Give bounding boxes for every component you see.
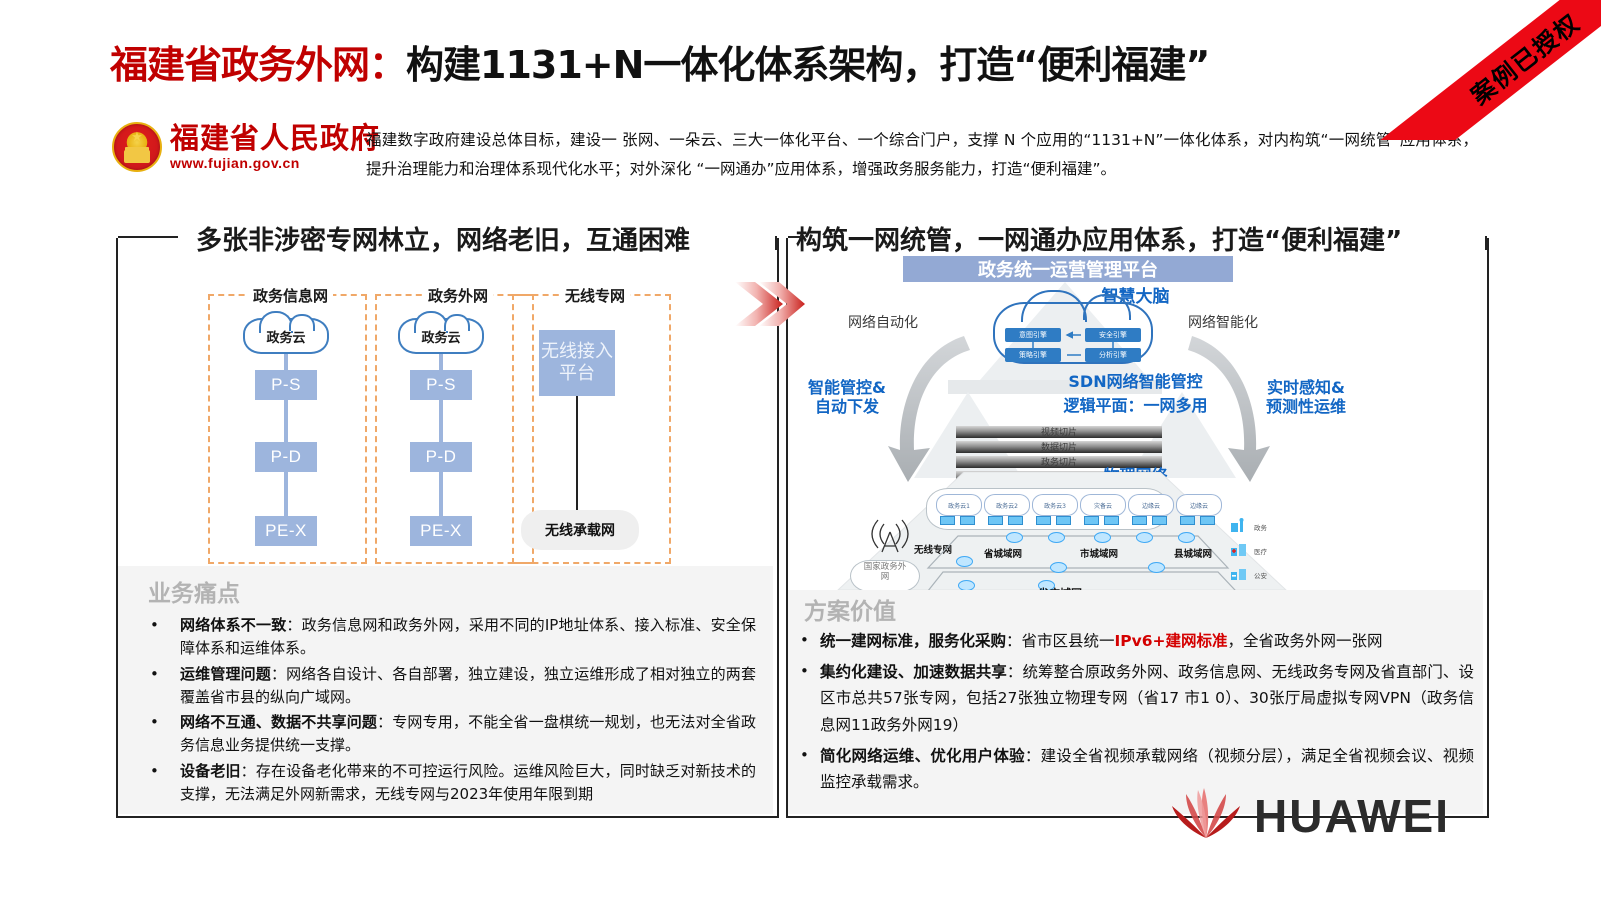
cloud-node: 政务云2 bbox=[984, 494, 1030, 516]
node-ps-2: P-S bbox=[410, 370, 472, 400]
huawei-wordmark: HUAWEI bbox=[1254, 789, 1450, 843]
frame-tick bbox=[1485, 236, 1487, 250]
switch-icon bbox=[1104, 516, 1119, 525]
gov-logo-text: 福建省人民政府 www.fujian.gov.cn bbox=[170, 123, 380, 171]
slice-label: 数据切片 bbox=[956, 440, 1162, 453]
router-icon bbox=[1178, 532, 1195, 543]
list-item: 运维管理问题：网络各自设计、各自部署，独立建设，独立运维形成了相对独立的两套覆盖… bbox=[136, 663, 756, 710]
bullet-bold: 网络体系不一致 bbox=[180, 616, 286, 634]
bullet-bold: 集约化建设、加速数据共享 bbox=[820, 663, 1007, 681]
page-title-red: 福建省政务外网： bbox=[110, 43, 406, 87]
link-line bbox=[284, 400, 288, 442]
bullet-bold: 简化网络运维、优化用户体验 bbox=[820, 747, 1025, 765]
switch-icon bbox=[1036, 516, 1051, 525]
router-icon bbox=[1136, 532, 1153, 543]
wireless-bearer-network: 无线承载网 bbox=[521, 510, 639, 550]
pain-points-list: 网络体系不一致：政务信息网和政务外网，采用不同的IP地址体系、接入标准、安全保障… bbox=[136, 614, 756, 808]
national-emblem-icon bbox=[112, 122, 162, 172]
county-metro-label: 县城域网 bbox=[1174, 546, 1212, 560]
sdn-label: SDN网络智能管控 bbox=[788, 368, 1483, 392]
link-line bbox=[439, 472, 443, 516]
cloud-node: 灾备云 bbox=[1080, 494, 1126, 516]
legend-label-2: 医疗 bbox=[1254, 546, 1267, 556]
router-icon bbox=[1048, 532, 1065, 543]
platform-bar: 政务统一运营管理平台 bbox=[903, 256, 1233, 282]
list-item: 网络体系不一致：政务信息网和政务外网，采用不同的IP地址体系、接入标准、安全保障… bbox=[136, 614, 756, 661]
switch-icon bbox=[988, 516, 1003, 525]
router-icon bbox=[1006, 532, 1023, 543]
pain-points-title: 业务痛点 bbox=[148, 574, 240, 608]
bullet-text: ：省市区县统一 bbox=[1006, 632, 1115, 650]
provincial-metro-label: 省城域网 bbox=[984, 546, 1022, 560]
router-icon bbox=[956, 556, 973, 567]
bullet-bold: 统一建网标准，服务化采购 bbox=[820, 632, 1006, 650]
switch-icon bbox=[940, 516, 955, 525]
huawei-flower-icon bbox=[1170, 786, 1242, 846]
node-pd-2: P-D bbox=[410, 442, 472, 472]
engine-arrows-icon bbox=[993, 302, 1153, 364]
huawei-logo: HUAWEI bbox=[1170, 785, 1480, 847]
bullet-tail: ，全省政务外网一张网 bbox=[1228, 632, 1383, 650]
column-title-2: 政务外网 bbox=[423, 285, 493, 306]
switch-icon bbox=[1132, 516, 1147, 525]
switch-icon bbox=[1200, 516, 1215, 525]
government-service-icon bbox=[1230, 518, 1246, 532]
bullet-text: ：存在设备老化带来的不可控运行风险。运维风险巨大，同时缺乏对新技术的支撑，无法满… bbox=[180, 762, 756, 803]
network-automation-label: 网络自动化 bbox=[848, 312, 918, 332]
page-title-black: 构建1131+N一体化体系架构，打造“便利福建” bbox=[406, 43, 1209, 87]
ribbon-label: 案例已授权 bbox=[1462, 3, 1586, 111]
link-line bbox=[576, 396, 578, 514]
pain-points-panel: 业务痛点 网络体系不一致：政务信息网和政务外网，采用不同的IP地址体系、接入标准… bbox=[118, 566, 773, 814]
list-item: 网络不互通、数据不共享问题：专网专用，不能全省一盘棋统一规划，也无法对全省政务信… bbox=[136, 711, 756, 758]
legend-label-1: 政务 bbox=[1254, 522, 1267, 532]
page-title: 福建省政务外网：构建1131+N一体化体系架构，打造“便利福建” bbox=[110, 34, 1209, 89]
network-intelligence-label: 网络智能化 bbox=[1188, 312, 1258, 332]
node-ps-1: P-S bbox=[255, 370, 317, 400]
intro-paragraph: 福建数字政府建设总体目标，建设一 张网、一朵云、三大一体化平台、一个综合门户，支… bbox=[366, 126, 1478, 183]
cloud-node: 政务云3 bbox=[1032, 494, 1078, 516]
link-line bbox=[439, 354, 443, 370]
router-icon bbox=[1148, 562, 1165, 573]
ribbon-band: 案例已授权 bbox=[1380, 0, 1601, 140]
solution-architecture-diagram: 政务统一运营管理平台 智慧大脑 意图引擎 安全引擎 策略引擎 分析引擎 SDN网… bbox=[788, 240, 1483, 600]
list-item: 集约化建设、加速数据共享：统筹整合原政务外网、政务信息网、无线政务专网及省直部门… bbox=[794, 659, 1474, 739]
router-icon bbox=[1050, 562, 1067, 573]
column-title-3: 无线专网 bbox=[560, 285, 630, 306]
solution-value-list: 统一建网标准，服务化采购：省市区县统一IPv6+建网标准，全省政务外网一张网 集… bbox=[794, 628, 1474, 800]
public-security-icon bbox=[1230, 566, 1246, 580]
bullet-bold: 设备老旧 bbox=[180, 762, 241, 780]
slice-item: 数据切片 bbox=[956, 441, 1162, 453]
cloud-node: 政务云1 bbox=[936, 494, 982, 516]
solution-value-title: 方案价值 bbox=[804, 592, 896, 626]
node-pex-1: PE-X bbox=[255, 516, 317, 546]
node-pd-1: P-D bbox=[255, 442, 317, 472]
frame-tick bbox=[775, 236, 777, 250]
medical-icon bbox=[1230, 542, 1246, 556]
cloud-node: 边缘云 bbox=[1176, 494, 1222, 516]
gov-name: 福建省人民政府 bbox=[170, 123, 380, 153]
logic-plane-label: 逻辑平面：一网多用 bbox=[788, 392, 1483, 416]
switch-icon bbox=[1056, 516, 1071, 525]
link-line bbox=[284, 354, 288, 370]
link-line bbox=[284, 472, 288, 516]
gov-logo: 福建省人民政府 www.fujian.gov.cn bbox=[112, 122, 380, 172]
switch-icon bbox=[1152, 516, 1167, 525]
authorized-ribbon: 案例已授权 bbox=[1371, 0, 1601, 140]
legend-label-3: 公安 bbox=[1254, 570, 1267, 580]
slice-label: 视频切片 bbox=[956, 425, 1162, 438]
gov-url: www.fujian.gov.cn bbox=[170, 155, 380, 171]
wireless-access-platform: 无线接入平台 bbox=[539, 330, 615, 396]
city-metro-label: 市城域网 bbox=[1080, 546, 1118, 560]
switch-icon bbox=[1084, 516, 1099, 525]
list-item: 统一建网标准，服务化采购：省市区县统一IPv6+建网标准，全省政务外网一张网 bbox=[794, 628, 1474, 655]
bullet-bold: 运维管理问题 bbox=[180, 665, 271, 683]
switch-icon bbox=[1180, 516, 1195, 525]
gov-cloud-2-label: 政务云 bbox=[398, 318, 484, 354]
gov-cloud-1-label: 政务云 bbox=[243, 318, 329, 354]
switch-icon bbox=[960, 516, 975, 525]
link-line bbox=[439, 400, 443, 442]
slice-item: 视频切片 bbox=[956, 426, 1162, 438]
intelligent-brain-cloud: 意图引擎 安全引擎 策略引擎 分析引擎 bbox=[993, 302, 1153, 364]
bullet-highlight: IPv6+建网标准 bbox=[1115, 632, 1228, 650]
node-pex-2: PE-X bbox=[410, 516, 472, 546]
list-item: 设备老旧：存在设备老化带来的不可控运行风险。运维风险巨大，同时缺乏对新技术的支撑… bbox=[136, 760, 756, 807]
router-icon bbox=[1094, 532, 1111, 543]
solution-value-panel: 方案价值 统一建网标准，服务化采购：省市区县统一IPv6+建网标准，全省政务外网… bbox=[788, 590, 1483, 814]
gov-cloud-2: 政务云 bbox=[398, 318, 484, 354]
column-title-1: 政务信息网 bbox=[248, 285, 333, 306]
gov-cloud-1: 政务云 bbox=[243, 318, 329, 354]
cloud-node: 边缘云 bbox=[1128, 494, 1174, 516]
switch-icon bbox=[1008, 516, 1023, 525]
bullet-bold: 网络不互通、数据不共享问题 bbox=[180, 713, 377, 731]
